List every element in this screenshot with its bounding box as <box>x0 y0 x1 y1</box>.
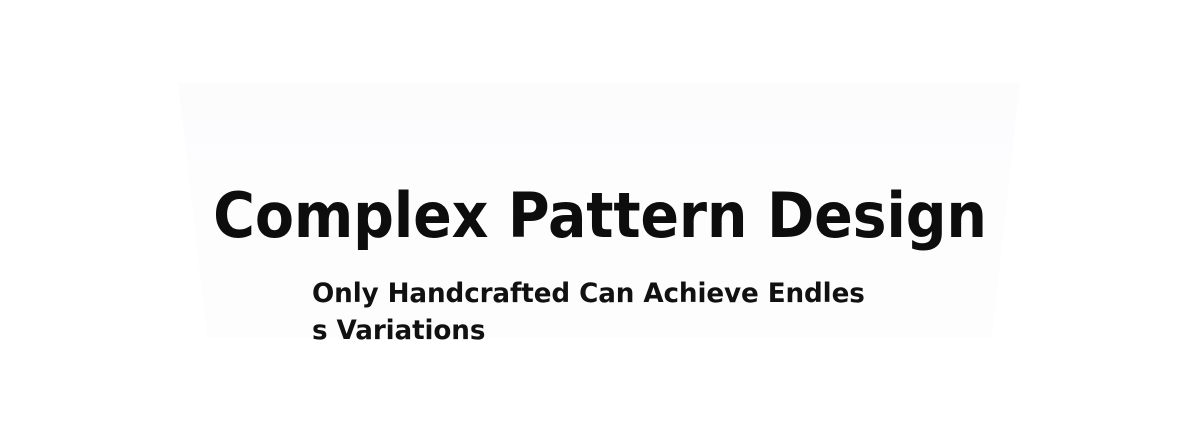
text-block: Complex Pattern Design Only Handcrafted … <box>0 0 1200 439</box>
page-subtitle: Only Handcrafted Can Achieve Endless Var… <box>312 275 865 349</box>
slide-canvas: Complex Pattern Design Only Handcrafted … <box>0 0 1200 439</box>
page-title: Complex Pattern Design <box>48 185 1152 247</box>
